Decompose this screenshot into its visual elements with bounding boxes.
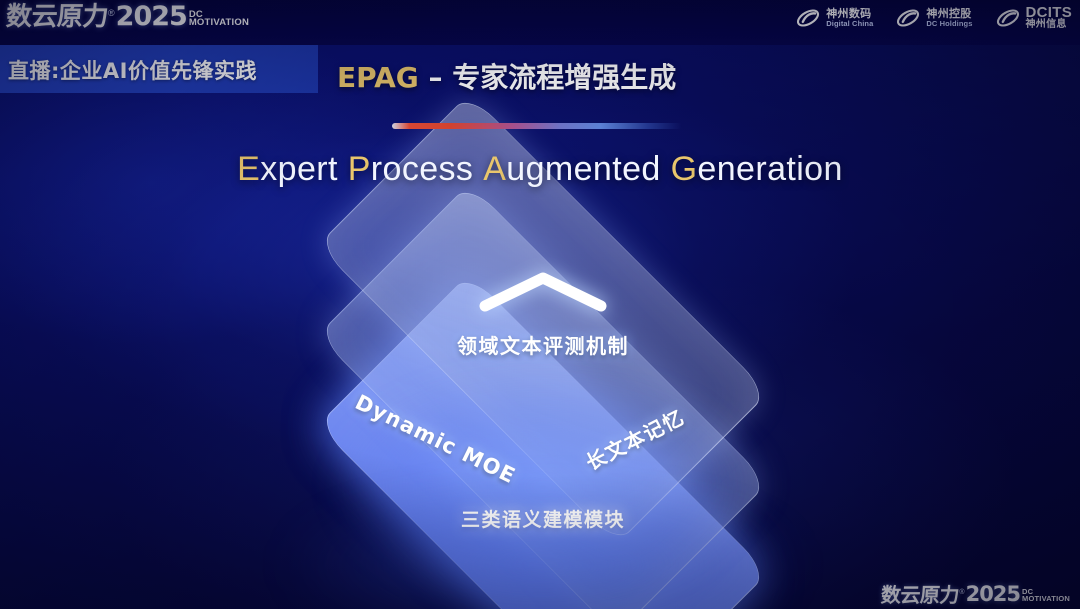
logo-registered-mark: ®	[108, 9, 115, 18]
slide-subtitle: Expert Process Augmented Generation	[0, 150, 1080, 189]
watermark-year-text: 2025	[966, 584, 1020, 605]
watermark-dc-line2: MOTIVATION	[1022, 596, 1070, 603]
brand-text-digital-china: 神州数码 Digital China	[826, 8, 873, 27]
dc-holdings-swirl-icon	[895, 5, 921, 31]
partner-logos: 神州数码 Digital China 神州控股 DC Holdings DCIT…	[795, 5, 1072, 31]
brand-logo-digital-china: 神州数码 Digital China	[795, 5, 873, 31]
brand-en-digital-china: Digital China	[826, 20, 873, 28]
watermark-registered-mark: ®	[959, 589, 964, 596]
title-acronym: EPAG	[337, 61, 419, 94]
brand-logo-dc-holdings: 神州控股 DC Holdings	[895, 5, 972, 31]
brand-logo-bottom-right: 数云原力 ® 2025 DC MOTIVATION	[881, 584, 1070, 605]
logo-chinese-text: 数云原力	[5, 4, 109, 30]
chevron-up-icon	[475, 268, 611, 314]
subtitle-word2-rest: rocess	[371, 150, 474, 188]
live-banner-label: 直播:企业AI价值先锋实践	[8, 55, 257, 85]
logo-year-text: 2025	[116, 3, 187, 30]
subtitle-word3-rest: ugmented	[506, 150, 660, 188]
slide-canvas: 数云原力 ® 2025 DC MOTIVATION 直播:企业AI价值先锋实践 …	[0, 0, 1080, 609]
subtitle-word3-initial: A	[483, 150, 506, 188]
watermark-dc-motivation: DC MOTIVATION	[1022, 589, 1070, 603]
diagram-layer-top-label: 领域文本评测机制	[258, 330, 828, 359]
logo-dc-line2: MOTIVATION	[189, 19, 249, 28]
brand-text-dc-holdings: 神州控股 DC Holdings	[926, 8, 972, 27]
title-chinese: 专家流程增强生成	[452, 61, 676, 94]
title-dash: –	[419, 61, 453, 94]
brand-logo-top-left: 数云原力 ® 2025 DC MOTIVATION	[6, 3, 249, 30]
diagram-layer-bottom-label: 三类语义建模模块	[258, 505, 828, 532]
brand-logo-dcits: DCITS 神州信息	[995, 5, 1073, 31]
subtitle-word4-initial: G	[671, 150, 698, 188]
subtitle-word1-rest: xpert	[260, 150, 338, 188]
logo-dc-motivation: DC MOTIVATION	[189, 11, 249, 28]
watermark-chinese-text: 数云原力	[881, 585, 960, 605]
layer-stack-diagram: 领域文本评测机制 Dynamic MOE 长文本记忆 三类语义建模模块	[258, 222, 828, 572]
subtitle-word4-rest: eneration	[697, 150, 842, 188]
brand-cn-dcits: 神州信息	[1026, 20, 1073, 31]
title-accent-line	[392, 123, 682, 129]
subtitle-word1-initial: E	[237, 150, 260, 188]
subtitle-word2-initial: P	[348, 150, 371, 188]
brand-text-dcits: DCITS 神州信息	[1026, 5, 1073, 31]
brand-en-dc-holdings: DC Holdings	[926, 20, 972, 28]
slide-title: EPAG – 专家流程增强生成	[337, 56, 676, 96]
dcits-swirl-icon	[995, 5, 1021, 31]
digital-china-swirl-icon	[795, 5, 821, 31]
brand-en-dcits: DCITS	[1026, 5, 1073, 20]
